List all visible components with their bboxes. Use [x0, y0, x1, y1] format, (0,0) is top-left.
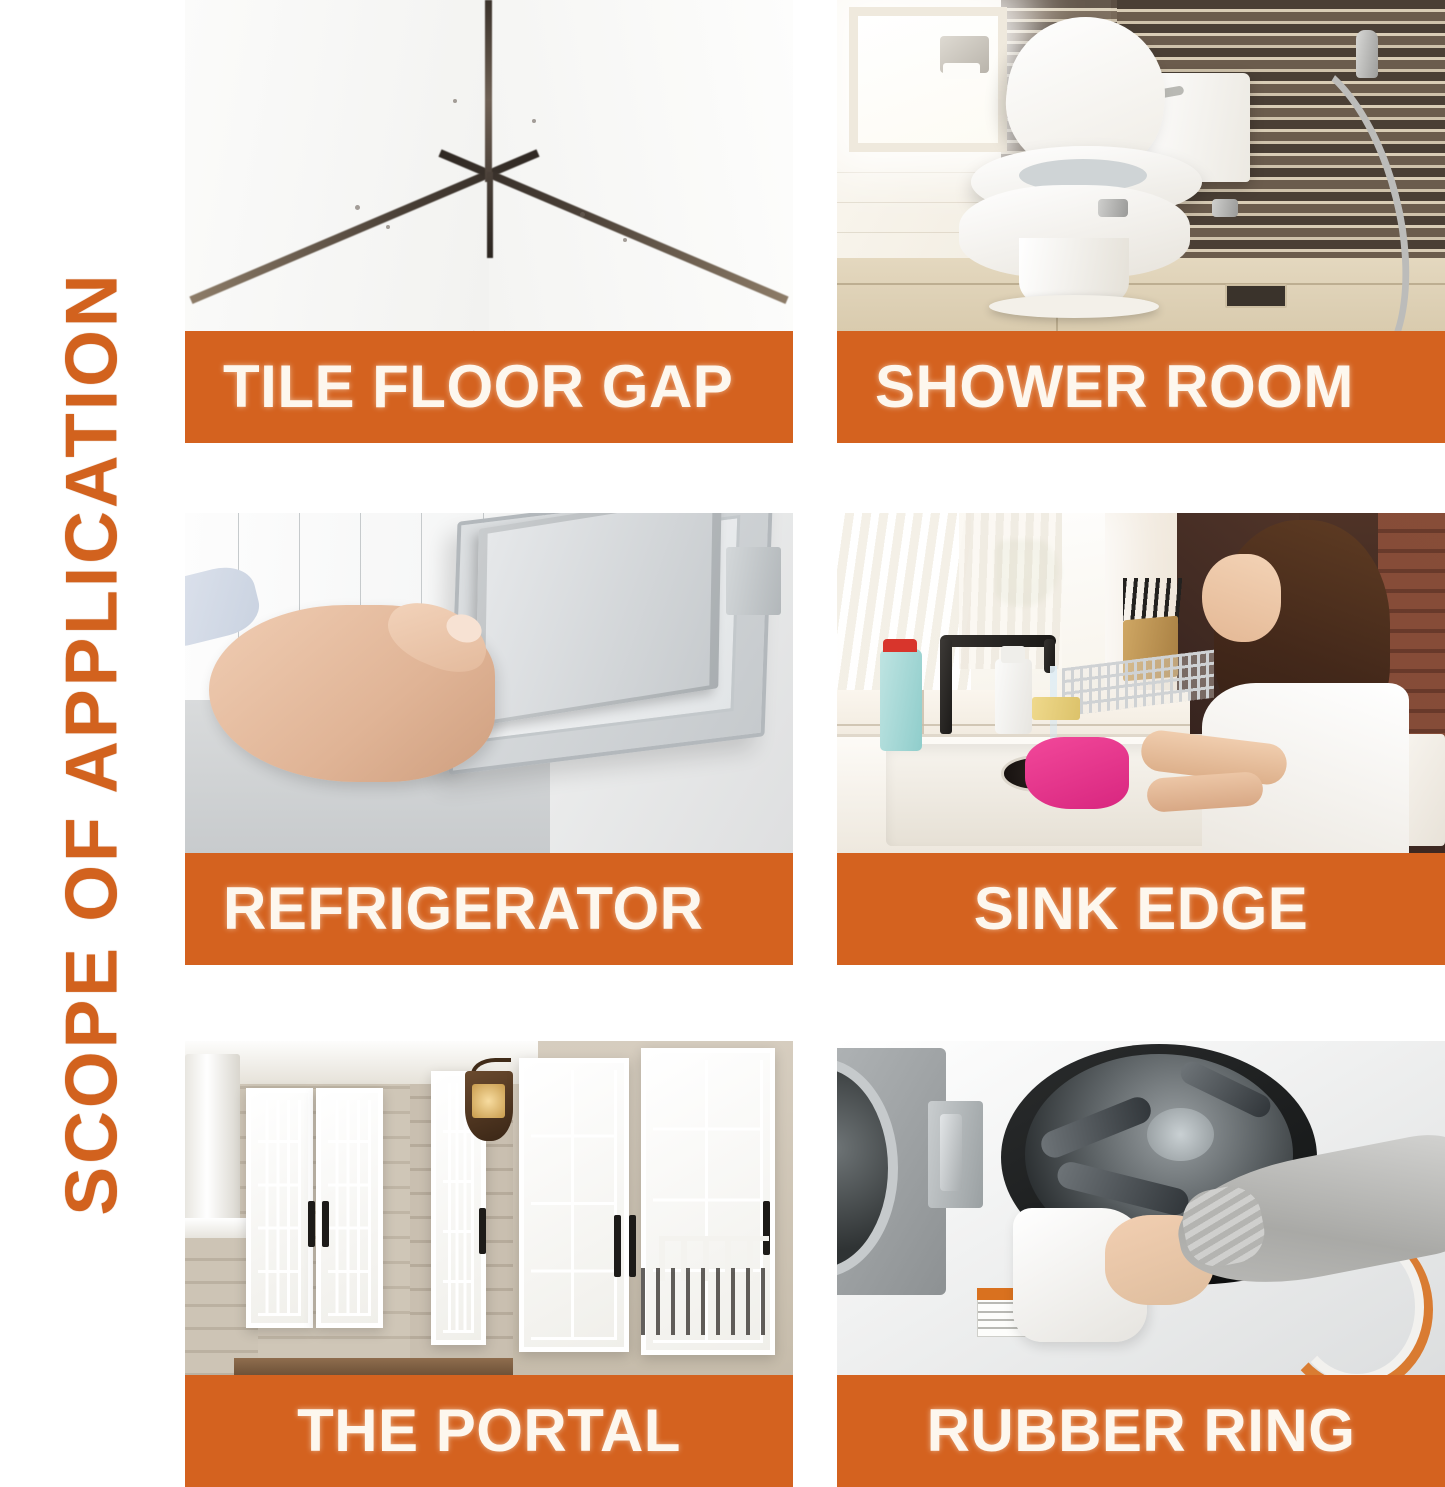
cell-rubber-ring[interactable]: RUBBER RING — [837, 1041, 1445, 1487]
caption-sink-edge: SINK EDGE — [837, 853, 1445, 965]
cell-sink-edge[interactable]: SINK EDGE — [837, 513, 1445, 965]
caption-shower-room: SHOWER ROOM — [837, 331, 1445, 443]
cell-shower-room[interactable]: SHOWER ROOM — [837, 0, 1445, 443]
cell-refrigerator[interactable]: REFRIGERATOR — [185, 513, 793, 965]
photo-sink-edge — [837, 513, 1445, 853]
caption-the-portal: THE PORTAL — [185, 1375, 793, 1487]
cell-the-portal[interactable]: THE PORTAL — [185, 1041, 793, 1487]
photo-rubber-ring — [837, 1041, 1445, 1375]
photo-refrigerator — [185, 513, 793, 853]
caption-rubber-ring: RUBBER RING — [837, 1375, 1445, 1487]
photo-shower-room — [837, 0, 1445, 331]
side-title-text: SCOPE OF APPLICATION — [51, 271, 134, 1215]
scope-of-application-title: SCOPE OF APPLICATION — [0, 0, 185, 1487]
cell-tile-floor-gap[interactable]: TILE FLOOR GAP — [185, 0, 793, 443]
photo-tile-floor-gap — [185, 0, 793, 331]
caption-refrigerator: REFRIGERATOR — [185, 853, 793, 965]
photo-the-portal — [185, 1041, 793, 1375]
application-scope-grid: TILE FLOOR GAP SHOWER ROOM — [185, 0, 1445, 1487]
caption-tile-floor-gap: TILE FLOOR GAP — [185, 331, 793, 443]
